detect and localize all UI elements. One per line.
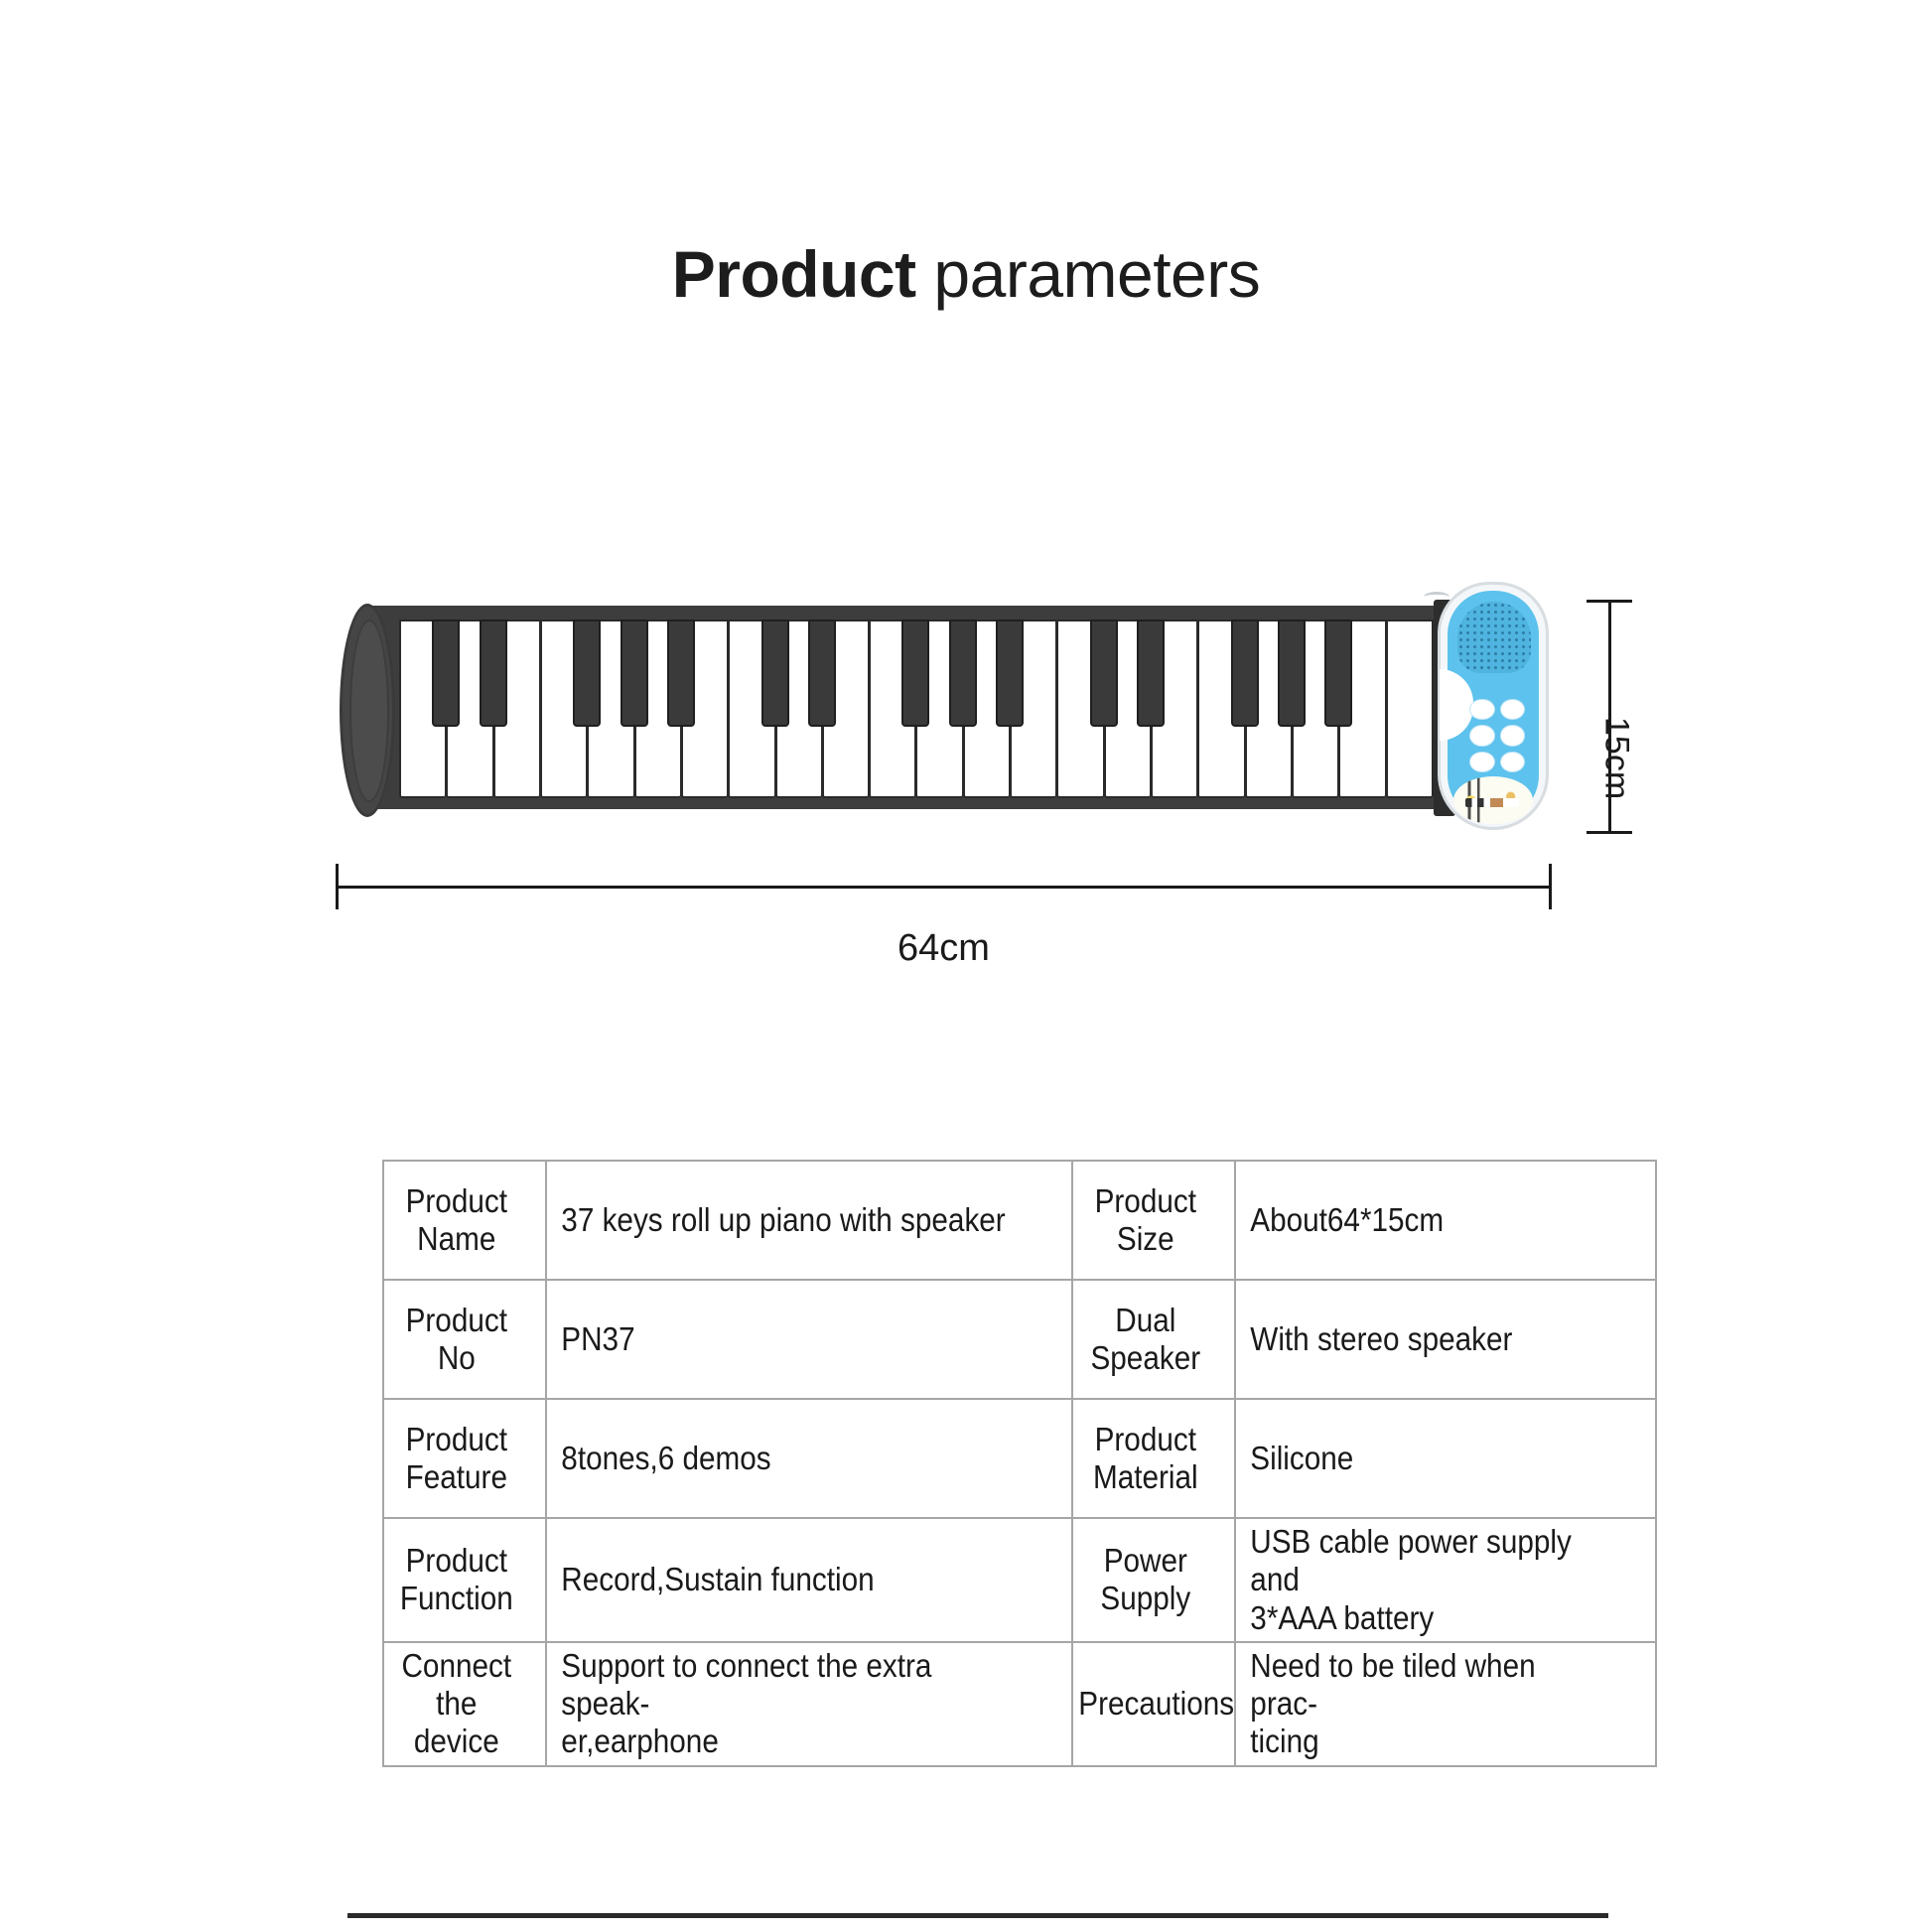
black-key [761,620,789,727]
control-button[interactable] [1469,699,1495,720]
speaker-grille-icon [1457,602,1531,673]
spec-value-product-no: PN37 [546,1280,1020,1399]
spec-key-line: Product [1078,1421,1212,1458]
white-key [869,620,915,798]
white-key [728,620,774,798]
spec-value-connect-the-device: Support to connect the extra speak- er,e… [546,1642,1020,1766]
spec-value-line: er,earphone [561,1723,1010,1760]
control-button[interactable] [1500,699,1526,720]
control-button-grid [1469,699,1525,772]
spec-key-line: Supply [1078,1580,1212,1617]
control-button[interactable] [1500,725,1526,746]
black-key [949,620,977,727]
spec-value-product-name: 37 keys roll up piano with speaker [546,1161,1020,1280]
spec-key-product-no: Product No [383,1280,530,1399]
spec-key-power-supply: Power Supply [1072,1518,1219,1642]
black-key [1137,620,1165,727]
black-key [432,620,460,727]
panel-sticker-keys [1465,798,1519,807]
spec-value-dual-speaker: With stereo speaker [1235,1280,1614,1399]
spec-key-line: Product [389,1182,523,1220]
spec-key-line: Dual [1078,1302,1212,1339]
spec-value-line: Need to be tiled when prac- [1250,1647,1603,1724]
spec-key-line: Connect [389,1647,523,1685]
spec-key-line: Product [389,1421,523,1458]
spec-key-line: Function [389,1580,523,1617]
page-title: Product parameters [0,236,1932,312]
table-row: Product Function Record,Sustain function… [383,1518,1656,1642]
table-row: Product Feature 8tones,6 demos Product M… [383,1399,1656,1518]
spec-value-product-size: About64*15cm [1235,1161,1614,1280]
bottom-divider [347,1913,1608,1918]
spec-key-product-function: Product Function [383,1518,530,1642]
spec-value-line: USB cable power supply and [1250,1523,1603,1599]
spec-value-line: Support to connect the extra speak- [561,1647,1010,1724]
width-dimension-rail [336,886,1552,889]
control-panel [1438,582,1549,830]
black-key [1278,620,1306,727]
spec-key-line: Precautions [1078,1685,1212,1723]
spec-key-product-feature: Product Feature [383,1399,530,1518]
spec-value-product-function: Record,Sustain function [546,1518,1020,1642]
white-key [540,620,587,798]
page-title-strong: Product [672,237,916,311]
spec-value-product-material: Silicone [1235,1399,1614,1518]
black-key [667,620,695,727]
spec-key-line: Speaker [1078,1339,1212,1377]
black-key [901,620,929,727]
spec-key-line: Material [1078,1458,1212,1496]
table-row: Product No PN37 Dual Speaker With stereo… [383,1280,1656,1399]
black-key [996,620,1024,727]
spec-key-line: Feature [389,1458,523,1496]
page-title-light: parameters [916,237,1261,311]
white-key [1197,620,1244,798]
spec-value-line: ticing [1250,1723,1603,1760]
spec-key-precautions: Precautions [1072,1642,1219,1766]
panel-sticker [1453,776,1533,824]
spec-key-line: Product [389,1542,523,1580]
control-button[interactable] [1500,752,1526,772]
spec-value-line: 3*AAA battery [1250,1599,1603,1637]
product-illustration: 15cm 64cm [328,576,1638,993]
spec-key-line: Power [1078,1542,1212,1580]
black-key [621,620,648,727]
black-key [1231,620,1259,727]
white-key [399,620,446,798]
width-dimension-tick-right [1549,864,1552,909]
spec-key-line: the device [389,1685,523,1761]
white-key [1386,620,1434,798]
height-dimension-label: 15cm [1597,717,1636,799]
product-parameters-page: Product parameters [0,0,1932,1932]
black-key [573,620,601,727]
spec-key-product-material: Product Material [1072,1399,1219,1518]
black-key [808,620,836,727]
roll-up-end-cap-inner [349,620,389,802]
height-dimension-tick-bottom [1587,831,1632,834]
spec-key-dual-speaker: Dual Speaker [1072,1280,1219,1399]
white-key [1056,620,1103,798]
spec-value-power-supply: USB cable power supply and 3*AAA battery [1235,1518,1614,1642]
piano-keys [399,620,1434,798]
spec-key-line: Product [1078,1182,1212,1220]
spec-key-line: No [389,1339,523,1377]
height-dimension: 15cm [1587,600,1632,834]
width-dimension: 64cm [336,864,1552,923]
spec-key-connect-the-device: Connect the device [383,1642,530,1766]
spec-key-line: Size [1078,1220,1212,1258]
spec-value-precautions: Need to be tiled when prac- ticing [1235,1642,1614,1766]
spec-key-product-name: Product Name [383,1161,530,1280]
cable-icon [1424,592,1449,602]
black-key [1090,620,1118,727]
black-key [480,620,507,727]
spec-key-line: Product [389,1302,523,1339]
spec-key-product-size: Product Size [1072,1161,1219,1280]
control-button[interactable] [1469,725,1495,746]
black-key [1324,620,1352,727]
table-row: Connect the device Support to connect th… [383,1642,1656,1766]
specification-table: Product Name 37 keys roll up piano with … [382,1160,1657,1767]
width-dimension-label: 64cm [336,927,1552,970]
table-row: Product Name 37 keys roll up piano with … [383,1161,1656,1280]
control-button[interactable] [1469,752,1495,772]
spec-key-line: Name [389,1220,523,1258]
spec-value-product-feature: 8tones,6 demos [546,1399,1020,1518]
